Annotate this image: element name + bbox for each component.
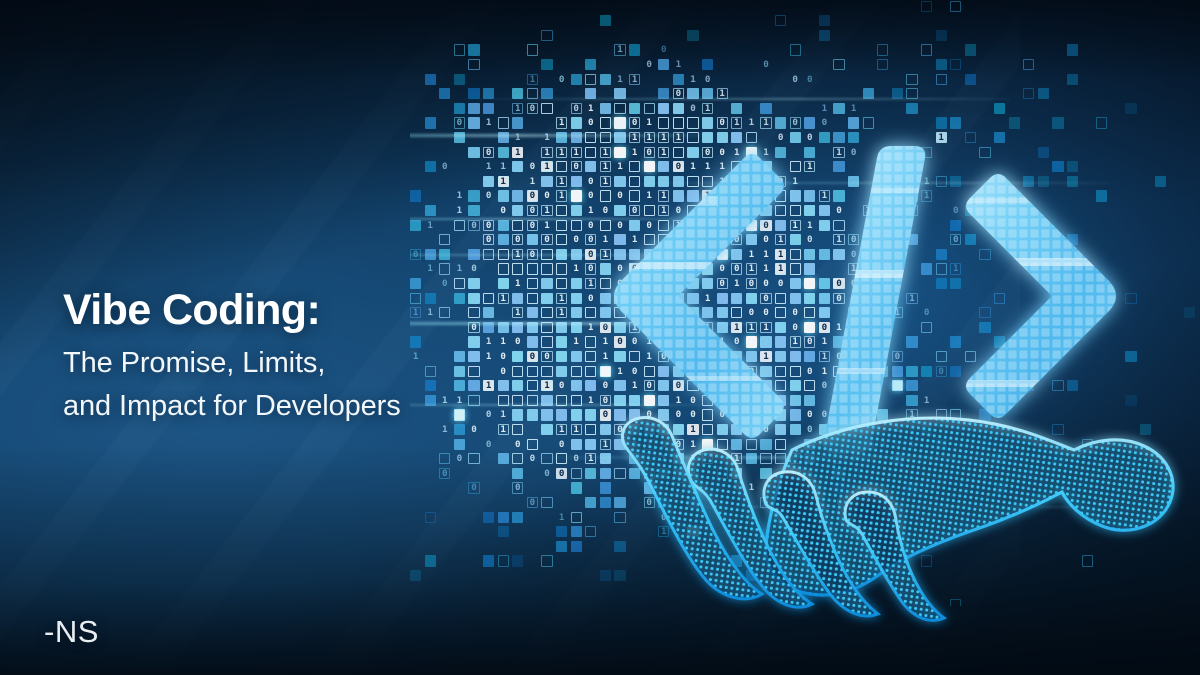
binary-cell (658, 59, 669, 70)
binary-cell (498, 249, 509, 260)
binary-cell: 0 (512, 482, 523, 493)
binary-cell: 0 (541, 351, 552, 362)
binary-cell: 1 (541, 147, 552, 158)
binary-cell: 0 (571, 161, 582, 172)
binary-cell (950, 1, 961, 12)
binary-cell (571, 541, 582, 552)
binary-cell: 1 (498, 176, 509, 187)
binary-cell (541, 59, 552, 70)
binary-cell: 0 (527, 205, 538, 216)
binary-cell (936, 117, 947, 128)
binary-cell (571, 293, 582, 304)
binary-cell (498, 117, 509, 128)
binary-cell: 1 (512, 147, 523, 158)
binary-cell: 0 (760, 59, 771, 70)
binary-cell (571, 278, 582, 289)
binary-cell: 1 (687, 74, 698, 85)
binary-cell (585, 468, 596, 479)
binary-cell (556, 395, 567, 406)
binary-cell (1067, 74, 1078, 85)
binary-cell (571, 117, 582, 128)
binary-cell (556, 278, 567, 289)
binary-cell (512, 220, 523, 231)
binary-cell: 0 (468, 482, 479, 493)
binary-cell: 1 (571, 336, 582, 347)
binary-cell (571, 482, 582, 493)
binary-cell (498, 132, 509, 143)
binary-cell: 0 (644, 59, 655, 70)
binary-cell (498, 220, 509, 231)
binary-cell (439, 234, 450, 245)
binary-cell (1125, 395, 1136, 406)
binary-cell (498, 555, 509, 566)
binary-cell: 1 (541, 205, 552, 216)
binary-cell (585, 366, 596, 377)
binary-cell (454, 44, 465, 55)
binary-cell (498, 453, 509, 464)
binary-cell: 0 (585, 293, 596, 304)
binary-cell (541, 395, 552, 406)
binary-cell: 0 (512, 234, 523, 245)
binary-cell (498, 190, 509, 201)
binary-cell (936, 59, 947, 70)
binary-cell: 1 (585, 322, 596, 333)
binary-cell (936, 30, 947, 41)
binary-cell (833, 103, 844, 114)
binary-cell (541, 278, 552, 289)
binary-cell: 1 (483, 161, 494, 172)
binary-cell (512, 161, 523, 172)
binary-cell (556, 234, 567, 245)
binary-cell (585, 526, 596, 537)
binary-cell (468, 249, 479, 260)
binary-cell (556, 453, 567, 464)
binary-cell (512, 263, 523, 274)
binary-cell (585, 409, 596, 420)
binary-cell: 1 (541, 132, 552, 143)
binary-cell: 0 (556, 74, 567, 85)
binary-cell (819, 30, 830, 41)
binary-cell (483, 103, 494, 114)
binary-cell (1023, 59, 1034, 70)
binary-cell (571, 395, 582, 406)
binary-cell: 1 (556, 424, 567, 435)
binary-cell (454, 132, 465, 143)
binary-cell (425, 117, 436, 128)
binary-cell (556, 409, 567, 420)
binary-cell (994, 103, 1005, 114)
binary-cell (702, 117, 713, 128)
binary-cell (921, 44, 932, 55)
binary-cell (512, 468, 523, 479)
binary-cell (600, 117, 611, 128)
binary-cell (965, 74, 976, 85)
binary-cell (556, 366, 567, 377)
binary-cell (687, 30, 698, 41)
binary-cell (571, 380, 582, 391)
binary-cell: 0 (790, 74, 801, 85)
binary-cell (541, 249, 552, 260)
binary-cell: 1 (527, 176, 538, 187)
binary-cell (658, 103, 669, 114)
binary-cell: 1 (629, 74, 640, 85)
binary-cell: 0 (571, 234, 582, 245)
binary-cell: 1 (483, 117, 494, 128)
binary-cell (527, 278, 538, 289)
binary-cell: 0 (673, 88, 684, 99)
binary-cell (585, 424, 596, 435)
binary-cell: 1 (731, 117, 742, 128)
binary-cell (600, 74, 611, 85)
binary-cell (571, 351, 582, 362)
binary-cell (483, 249, 494, 260)
binary-cell: 1 (541, 161, 552, 172)
binary-cell (556, 249, 567, 260)
binary-cell (585, 132, 596, 143)
binary-cell (498, 147, 509, 158)
binary-cell: 0 (585, 176, 596, 187)
binary-cell (614, 103, 625, 114)
binary-cell (425, 512, 436, 523)
binary-cell (906, 88, 917, 99)
binary-cell (614, 117, 625, 128)
binary-cell (614, 88, 625, 99)
binary-cell: 0 (527, 161, 538, 172)
binary-cell (629, 103, 640, 114)
binary-cell: 0 (483, 439, 494, 450)
binary-cell: 1 (673, 59, 684, 70)
binary-cell (439, 249, 450, 260)
binary-cell: 1 (454, 205, 465, 216)
binary-cell (541, 103, 552, 114)
binary-cell (541, 307, 552, 318)
binary-cell (585, 88, 596, 99)
binary-cell: 1 (541, 380, 552, 391)
binary-cell: 0 (717, 117, 728, 128)
binary-cell (585, 336, 596, 347)
binary-cell (571, 132, 582, 143)
binary-cell: 1 (614, 74, 625, 85)
binary-cell (541, 176, 552, 187)
binary-cell (439, 453, 450, 464)
binary-cell (512, 88, 523, 99)
binary-cell (527, 263, 538, 274)
binary-cell: 0 (454, 117, 465, 128)
binary-cell (673, 103, 684, 114)
binary-cell: 1 (512, 132, 523, 143)
binary-cell (819, 15, 830, 26)
binary-cell (541, 263, 552, 274)
binary-cell: 1 (702, 103, 713, 114)
binary-cell (702, 88, 713, 99)
binary-cell: 0 (512, 439, 523, 450)
binary-cell: 0 (556, 439, 567, 450)
binary-cell: 0 (527, 190, 538, 201)
binary-cell: 0 (439, 468, 450, 479)
binary-cell (527, 44, 538, 55)
binary-cell (498, 278, 509, 289)
binary-cell (541, 555, 552, 566)
binary-cell (571, 526, 582, 537)
binary-cell (804, 117, 815, 128)
binary-cell: 1 (585, 395, 596, 406)
binary-cell (585, 147, 596, 158)
binary-cell: 1 (556, 176, 567, 187)
binary-cell (541, 424, 552, 435)
binary-cell: 0 (410, 249, 421, 260)
binary-cell (629, 44, 640, 55)
binary-cell (454, 439, 465, 450)
binary-cell (921, 1, 932, 12)
binary-cell (571, 205, 582, 216)
binary-cell (585, 380, 596, 391)
binary-cell (425, 205, 436, 216)
binary-cell (410, 220, 421, 231)
binary-cell: 0 (585, 190, 596, 201)
binary-cell: 0 (454, 453, 465, 464)
binary-cell (498, 263, 509, 274)
binary-cell (585, 439, 596, 450)
binary-cell (571, 307, 582, 318)
wireframe-hand-icon (596, 408, 1196, 658)
binary-cell: 1 (585, 103, 596, 114)
binary-cell (760, 103, 771, 114)
binary-cell (644, 103, 655, 114)
binary-cell (1184, 307, 1195, 318)
binary-cell: 1 (848, 103, 859, 114)
binary-cell (541, 30, 552, 41)
binary-cell (585, 59, 596, 70)
binary-cell (1096, 117, 1107, 128)
binary-cell (775, 15, 786, 26)
binary-cell: 1 (541, 220, 552, 231)
page-title: Vibe Coding: (63, 289, 533, 332)
binary-cell: 1 (585, 278, 596, 289)
binary-cell: 0 (483, 190, 494, 201)
binary-cell (833, 59, 844, 70)
binary-cell (541, 453, 552, 464)
binary-cell: 0 (585, 220, 596, 231)
binary-cell: 1 (512, 278, 523, 289)
binary-cell: 0 (483, 147, 494, 158)
binary-cell: 1 (760, 117, 771, 128)
binary-cell (468, 147, 479, 158)
binary-cell (410, 190, 421, 201)
binary-cell (1067, 44, 1078, 55)
binary-cell: 0 (629, 117, 640, 128)
binary-cell (571, 468, 582, 479)
binary-cell: 1 (717, 88, 728, 99)
binary-cell (600, 103, 611, 114)
binary-cell: 0 (585, 263, 596, 274)
binary-cell: 0 (527, 453, 538, 464)
binary-cell (571, 439, 582, 450)
binary-cell (468, 103, 479, 114)
binary-cell (863, 88, 874, 99)
binary-cell: 0 (585, 234, 596, 245)
binary-cell: 1 (571, 263, 582, 274)
binary-cell (556, 132, 567, 143)
binary-cell: 1 (571, 147, 582, 158)
binary-cell (571, 190, 582, 201)
binary-cell (571, 176, 582, 187)
binary-cell (936, 74, 947, 85)
binary-cell: 0 (790, 117, 801, 128)
binary-cell (673, 117, 684, 128)
binary-cell (950, 117, 961, 128)
binary-cell (877, 44, 888, 55)
binary-cell (571, 74, 582, 85)
binary-cell (863, 117, 874, 128)
binary-cell: 0 (468, 263, 479, 274)
binary-cell: 0 (556, 468, 567, 479)
binary-cell (468, 88, 479, 99)
binary-cell (585, 351, 596, 362)
binary-cell (483, 555, 494, 566)
binary-cell (585, 74, 596, 85)
binary-cell (468, 453, 479, 464)
binary-cell: 0 (556, 380, 567, 391)
binary-cell: 1 (454, 263, 465, 274)
binary-cell: 1 (819, 103, 830, 114)
binary-cell (468, 190, 479, 201)
binary-cell (1023, 88, 1034, 99)
binary-cell (468, 278, 479, 289)
binary-cell: 0 (439, 161, 450, 172)
binary-cell (571, 249, 582, 260)
binary-cell: 0 (483, 234, 494, 245)
binary-cell: 1 (556, 512, 567, 523)
binary-cell (512, 117, 523, 128)
binary-cell (687, 117, 698, 128)
binary-cell (687, 88, 698, 99)
binary-cell: 1 (527, 74, 538, 85)
binary-cell (585, 307, 596, 318)
binary-cell: 0 (498, 205, 509, 216)
binary-cell (439, 88, 450, 99)
binary-cell (571, 322, 582, 333)
binary-cell (483, 176, 494, 187)
binary-cell (439, 263, 450, 274)
binary-cell (498, 234, 509, 245)
binary-cell: 1 (556, 147, 567, 158)
page-subtitle: The Promise, Limits, and Impact for Deve… (63, 342, 533, 428)
binary-cell (585, 497, 596, 508)
binary-cell (906, 103, 917, 114)
binary-cell (527, 439, 538, 450)
binary-cell: 1 (512, 103, 523, 114)
binary-cell (1155, 176, 1166, 187)
binary-cell: 1 (556, 307, 567, 318)
binary-cell: 1 (498, 161, 509, 172)
binary-cell (556, 526, 567, 537)
binary-cell: 0 (527, 103, 538, 114)
binary-cell (512, 190, 523, 201)
binary-cell (673, 74, 684, 85)
binary-cell: 1 (556, 117, 567, 128)
binary-cell: 1 (512, 249, 523, 260)
binary-cell: 1 (556, 293, 567, 304)
binary-cell (425, 74, 436, 85)
binary-cell (527, 234, 538, 245)
binary-cell (541, 409, 552, 420)
binary-cell (965, 44, 976, 55)
binary-cell: 0 (439, 278, 450, 289)
binary-cell: 0 (468, 220, 479, 231)
binary-cell (468, 117, 479, 128)
binary-cell (454, 74, 465, 85)
binary-cell (1125, 351, 1136, 362)
binary-cell (425, 555, 436, 566)
binary-cell (600, 15, 611, 26)
binary-cell: 1 (644, 117, 655, 128)
binary-cell (512, 555, 523, 566)
binary-cell (541, 336, 552, 347)
binary-cell (541, 497, 552, 508)
binary-cell: 1 (425, 220, 436, 231)
binary-cell (468, 59, 479, 70)
binary-cell (571, 409, 582, 420)
binary-cell: 0 (527, 220, 538, 231)
binary-cell (468, 205, 479, 216)
binary-cell: 0 (483, 220, 494, 231)
binary-cell (454, 220, 465, 231)
binary-cell: 1 (425, 263, 436, 274)
binary-cell (425, 249, 436, 260)
binary-cell: 0 (541, 190, 552, 201)
binary-cell (498, 526, 509, 537)
binary-cell (658, 117, 669, 128)
binary-cell (556, 263, 567, 274)
binary-cell (541, 366, 552, 377)
binary-cell (658, 88, 669, 99)
binary-cell (775, 117, 786, 128)
binary-cell (556, 336, 567, 347)
binary-cell (410, 570, 421, 581)
binary-cell: 0 (819, 117, 830, 128)
binary-cell (468, 44, 479, 55)
binary-cell (498, 512, 509, 523)
presentation-slide: 1001010111000011001011101100101110011111… (0, 0, 1200, 675)
binary-cell (556, 205, 567, 216)
binary-cell (556, 541, 567, 552)
binary-cell: 1 (556, 190, 567, 201)
binary-cell: 0 (527, 249, 538, 260)
binary-cell (541, 88, 552, 99)
binary-cell (512, 205, 523, 216)
binary-cell (512, 512, 523, 523)
binary-cell: 0 (541, 468, 552, 479)
binary-cell (527, 88, 538, 99)
binary-cell: 0 (585, 117, 596, 128)
binary-cell: 0 (571, 103, 582, 114)
binary-cell (1038, 88, 1049, 99)
binary-cell (790, 44, 801, 55)
binary-cell: 0 (571, 453, 582, 464)
binary-cell (571, 512, 582, 523)
binary-cell (454, 103, 465, 114)
binary-cell: 0 (585, 249, 596, 260)
binary-cell (541, 322, 552, 333)
binary-cell: 0 (687, 103, 698, 114)
binary-cell (483, 512, 494, 523)
binary-cell (571, 366, 582, 377)
binary-cell (512, 453, 523, 464)
binary-cell (1125, 103, 1136, 114)
binary-cell (892, 88, 903, 99)
binary-cell (702, 59, 713, 70)
binary-cell: 0 (527, 497, 538, 508)
